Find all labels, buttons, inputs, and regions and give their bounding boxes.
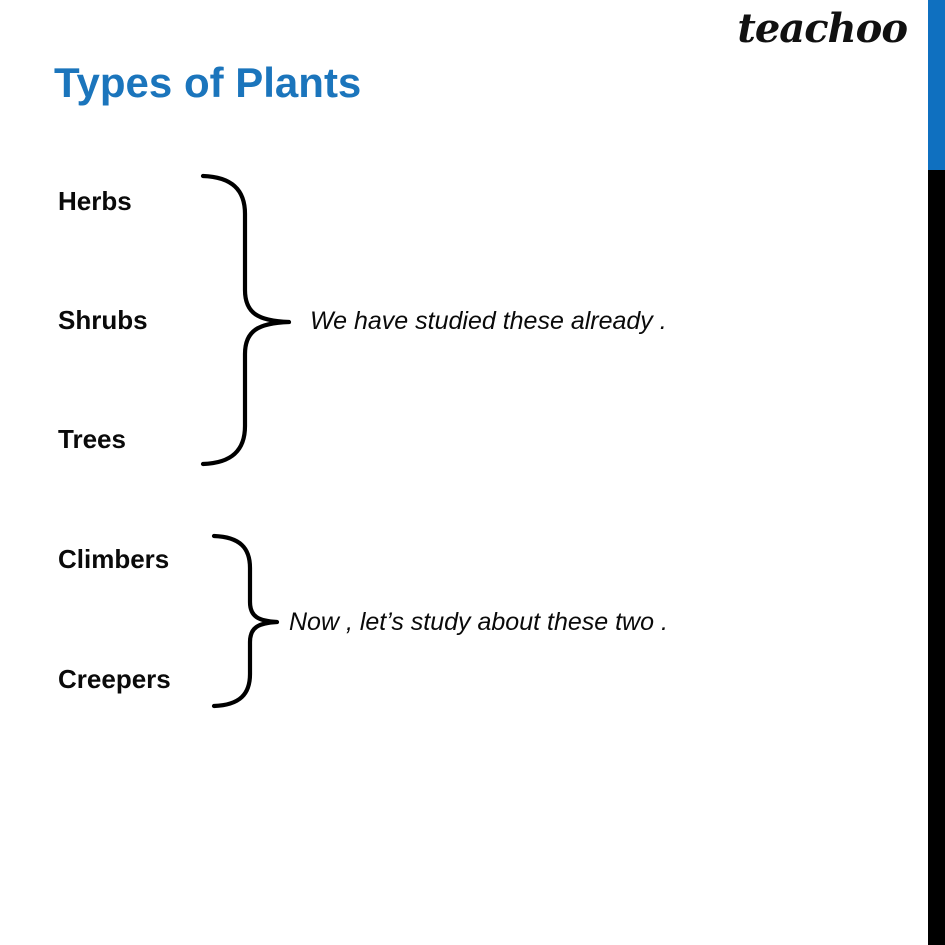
category-label-shrubs: Shrubs	[58, 305, 148, 336]
brace-group-layer	[0, 0, 945, 945]
curly-brace-studied	[203, 176, 289, 464]
curly-brace-to-study	[214, 536, 277, 706]
category-label-herbs: Herbs	[58, 186, 132, 217]
category-label-creepers: Creepers	[58, 664, 171, 695]
category-label-climbers: Climbers	[58, 544, 169, 575]
page-title: Types of Plants	[54, 60, 361, 106]
note-to-study: Now , let’s study about these two .	[289, 608, 668, 637]
category-label-trees: Trees	[58, 424, 126, 455]
teachoo-logo: teachoo	[737, 9, 907, 49]
right-edge-black-bar	[928, 170, 945, 945]
slide-canvas: teachoo Types of Plants Herbs Shrubs Tre…	[0, 0, 945, 945]
right-edge-blue-bar	[928, 0, 945, 170]
note-studied: We have studied these already .	[310, 307, 667, 336]
